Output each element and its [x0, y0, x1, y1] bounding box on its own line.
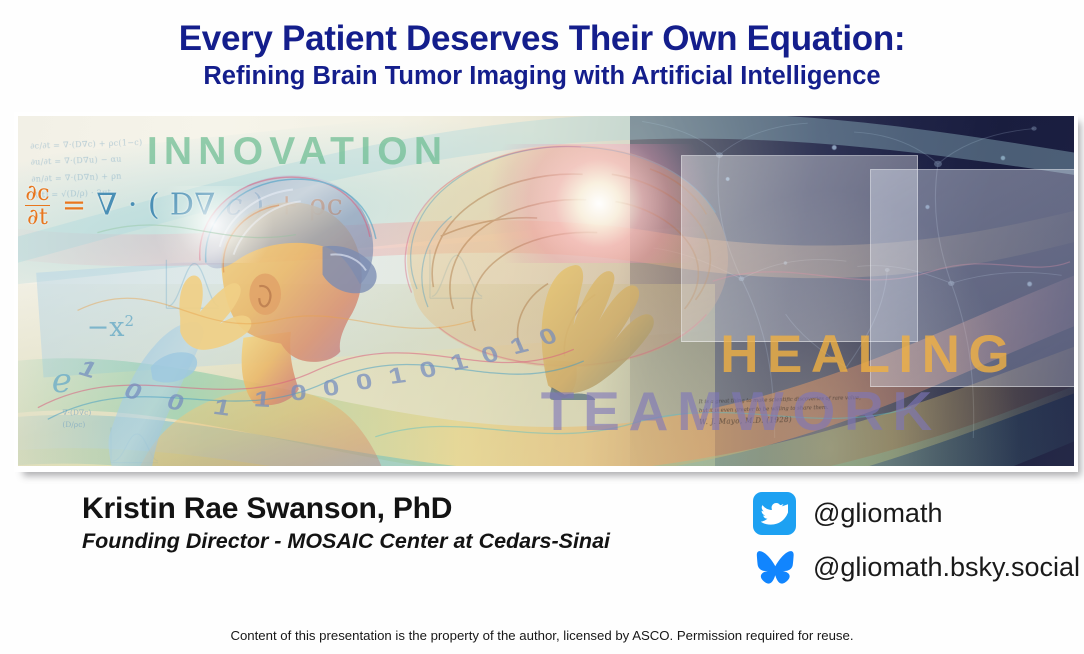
twitter-bird-icon[interactable] — [753, 492, 796, 535]
binary-digit: 1 — [386, 362, 408, 389]
binary-digit: 0 — [534, 322, 561, 350]
overlay-word-teamwork: TEAMWORK — [541, 384, 941, 439]
bluesky-handle[interactable]: @gliomath.bsky.social — [813, 552, 1080, 583]
overlay-word-innovation: INNOVATION — [147, 132, 448, 171]
social-row-twitter[interactable]: @gliomath — [753, 490, 1080, 537]
presenter-role: Founding Director - MOSAIC Center at Ced… — [82, 529, 610, 554]
copyright-notice: Content of this presentation is the prop… — [0, 628, 1084, 643]
binary-digit: 0 — [119, 377, 147, 405]
slide-title-block: Every Patient Deserves Their Own Equatio… — [0, 20, 1084, 91]
binary-digit: 1 — [506, 331, 532, 359]
binary-digit: 1 — [253, 386, 272, 412]
binary-digit: 0 — [289, 379, 307, 405]
hero-image-frame: ∂c/∂t = ∇·(D∇c) + ρc(1−c) ∂u/∂t = ∇·(D∇u… — [14, 112, 1078, 472]
binary-digit: 0 — [477, 340, 502, 368]
slide-title-subtitle: Refining Brain Tumor Imaging with Artifi… — [0, 62, 1084, 91]
social-row-bluesky[interactable]: @gliomath.bsky.social — [753, 544, 1080, 591]
binary-digit: 0 — [353, 368, 374, 395]
binary-digit: 0 — [163, 388, 188, 416]
social-links: @gliomath @gliomath.bsky.social — [753, 490, 1080, 591]
binary-digit: 0 — [321, 374, 341, 401]
twitter-handle[interactable]: @gliomath — [813, 498, 942, 529]
binary-digit: 1 — [211, 393, 233, 420]
presenter-name: Kristin Rae Swanson, PhD — [82, 492, 610, 526]
presenter-block: Kristin Rae Swanson, PhD Founding Direct… — [82, 492, 610, 554]
binary-digit: 1 — [447, 348, 471, 376]
binary-digit: 0 — [416, 356, 439, 384]
hero-collage-image: ∂c/∂t = ∇·(D∇c) + ρc(1−c) ∂u/∂t = ∇·(D∇u… — [18, 116, 1074, 466]
slide-title-main: Every Patient Deserves Their Own Equatio… — [0, 20, 1084, 58]
binary-digit-string: 1 0 0 1 1 0 0 0 1 0 1 0 1 0 — [71, 319, 620, 452]
overlay-word-healing: HEALING — [720, 328, 1018, 381]
binary-digit: 1 — [74, 355, 102, 383]
presentation-slide: Every Patient Deserves Their Own Equatio… — [0, 0, 1084, 654]
bluesky-butterfly-icon[interactable] — [753, 546, 796, 589]
